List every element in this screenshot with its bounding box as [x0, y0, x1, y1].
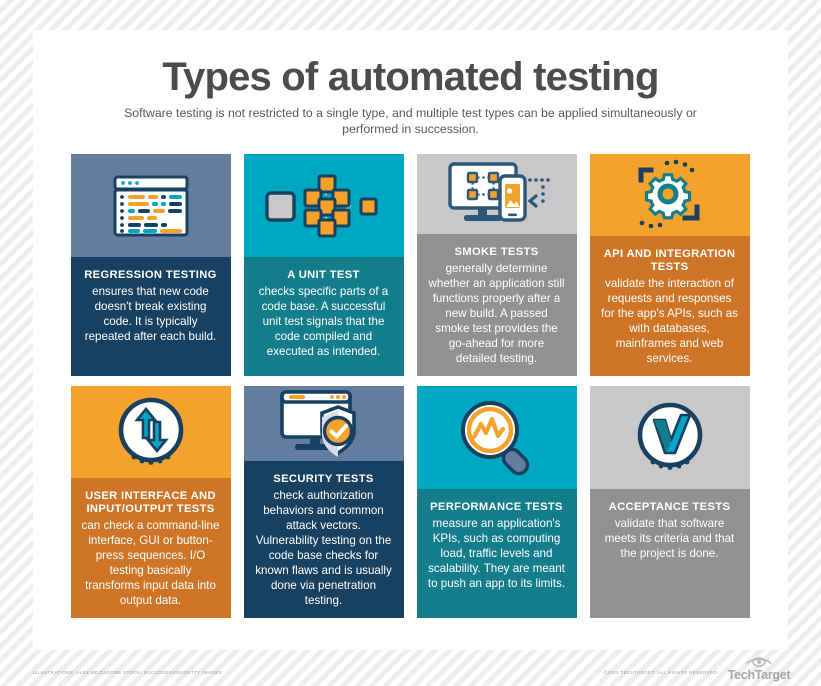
card-text: checks specific parts of a code base. A … — [255, 284, 393, 359]
card-art — [590, 386, 750, 489]
checkmark-circle-icon — [630, 398, 710, 478]
card-heading: ACCEPTANCE TESTS — [601, 501, 739, 515]
card-text: validate the interaction of requests and… — [601, 276, 739, 366]
card-text: generally determine whether an applicati… — [428, 261, 566, 366]
card-art — [244, 154, 404, 257]
card-smoke-tests: SMOKE TESTS generally determine whether … — [417, 154, 577, 376]
card-api-integration-tests: API AND INTEGRATION TESTS validate the i… — [590, 154, 750, 376]
page-subtitle: Software testing is not restricted to a … — [123, 105, 698, 137]
page-title: Types of automated testing — [33, 56, 788, 98]
card-heading: SECURITY TESTS — [255, 473, 393, 487]
magnifier-chart-icon — [455, 398, 539, 478]
card-art — [71, 154, 231, 257]
card-art — [71, 386, 231, 477]
test-types-grid: REGRESSION TESTING ensures that new code… — [71, 154, 751, 618]
card-regression-testing: REGRESSION TESTING ensures that new code… — [71, 154, 231, 376]
footer: ILLUSTRATIONS: ALEX MDZ/ADOBE STOCK, SUC… — [0, 652, 821, 686]
brand-logo: TechTarget — [719, 657, 799, 682]
card-text: check authorization behaviors and common… — [255, 488, 393, 609]
card-body: A UNIT TEST checks specific parts of a c… — [244, 257, 404, 376]
card-acceptance-tests: ACCEPTANCE TESTS validate that software … — [590, 386, 750, 618]
card-body: ACCEPTANCE TESTS validate that software … — [590, 489, 750, 618]
card-art — [244, 386, 404, 461]
monitor-phone-icon — [442, 158, 552, 230]
card-ui-io-tests: USER INTERFACE AND INPUT/OUTPUT TESTS ca… — [71, 386, 231, 618]
card-art — [590, 154, 750, 235]
card-heading: A UNIT TEST — [255, 269, 393, 283]
card-body: SECURITY TESTS check authorization behav… — [244, 461, 404, 618]
card-body: PERFORMANCE TESTS measure an application… — [417, 489, 577, 618]
illustration-credit: ILLUSTRATIONS: ALEX MDZ/ADOBE STOCK, SUC… — [33, 670, 222, 675]
eye-icon — [746, 657, 772, 668]
card-security-tests: SECURITY TESTS check authorization behav… — [244, 386, 404, 618]
code-window-icon — [112, 175, 190, 237]
card-heading: REGRESSION TESTING — [82, 269, 220, 283]
header: Types of automated testing Software test… — [33, 30, 788, 137]
card-unit-test: A UNIT TEST checks specific parts of a c… — [244, 154, 404, 376]
up-down-arrows-icon — [111, 392, 191, 472]
card-text: can check a command-line interface, GUI … — [82, 518, 220, 608]
card-heading: PERFORMANCE TESTS — [428, 501, 566, 515]
card-heading: USER INTERFACE AND INPUT/OUTPUT TESTS — [82, 490, 220, 517]
card-text: ensures that new code doesn't break exis… — [82, 284, 220, 344]
card-heading: API AND INTEGRATION TESTS — [601, 248, 739, 275]
card-art — [417, 154, 577, 234]
card-body: USER INTERFACE AND INPUT/OUTPUT TESTS ca… — [71, 478, 231, 619]
node-network-icon — [265, 173, 383, 239]
gear-icon — [627, 155, 713, 235]
card-body: API AND INTEGRATION TESTS validate the i… — [590, 236, 750, 377]
card-body: REGRESSION TESTING ensures that new code… — [71, 257, 231, 376]
card-art — [417, 386, 577, 489]
card-heading: SMOKE TESTS — [428, 246, 566, 260]
infographic-canvas: Types of automated testing Software test… — [33, 30, 788, 650]
card-text: measure an application's KPIs, such as c… — [428, 516, 566, 591]
monitor-shield-icon — [276, 387, 372, 461]
card-body: SMOKE TESTS generally determine whether … — [417, 234, 577, 376]
card-text: validate that software meets its criteri… — [601, 516, 739, 561]
copyright-notice: ©2023 TECHTARGET. ALL RIGHTS RESERVED — [604, 670, 717, 675]
brand-name: TechTarget — [719, 669, 799, 682]
card-performance-tests: PERFORMANCE TESTS measure an application… — [417, 386, 577, 618]
